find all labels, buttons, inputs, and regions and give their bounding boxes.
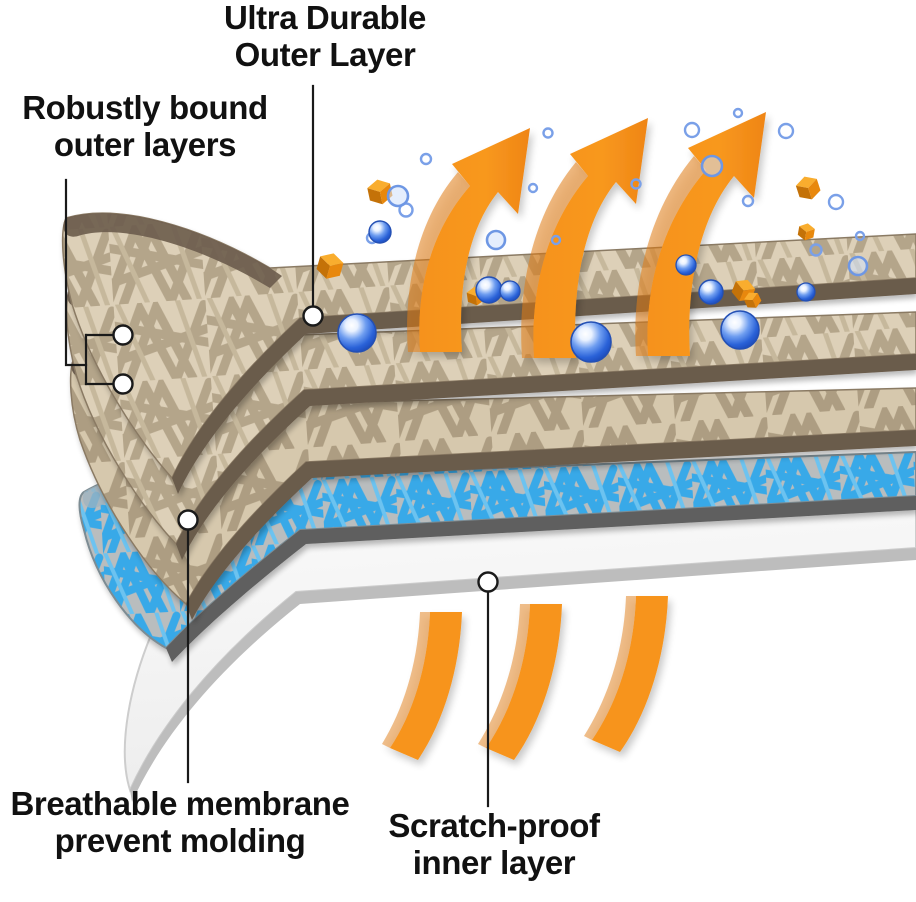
label-breathable-membrane: Breathable membrane prevent molding (4, 786, 356, 860)
dirt-cube (794, 173, 822, 203)
callout-marker-scratch-proof (479, 573, 498, 592)
diagram-canvas: Ultra Durable Outer Layer Robustly bound… (0, 0, 916, 902)
callout-marker-robustly-lower (114, 375, 133, 394)
label-scratch-proof-inner-layer: Scratch-proof inner layer (370, 808, 618, 882)
downward-arrow-group (382, 596, 668, 760)
callout-marker-ultra-durable (304, 307, 323, 326)
label-ultra-durable-outer-layer: Ultra Durable Outer Layer (193, 0, 457, 74)
label-robustly-bound-outer-layers: Robustly bound outer layers (6, 90, 284, 164)
callout-marker-robustly-upper (114, 326, 133, 345)
callout-marker-breathable (179, 511, 198, 530)
